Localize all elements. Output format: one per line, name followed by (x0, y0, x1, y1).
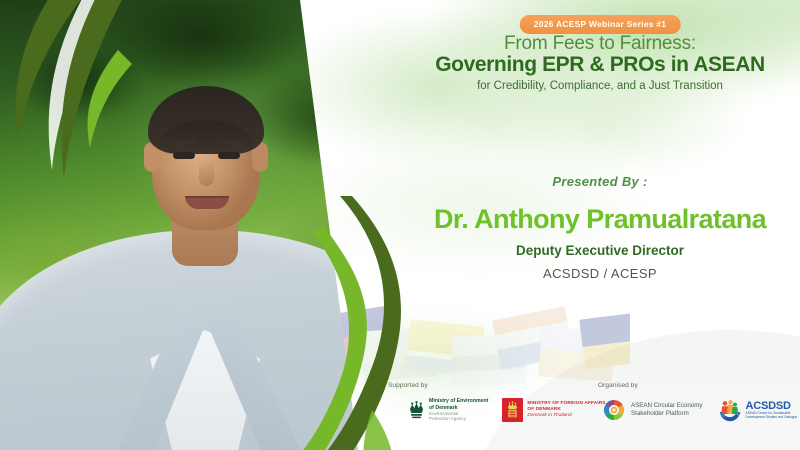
speaker-eye-right (218, 152, 240, 159)
circular-economy-wheel-icon (602, 398, 626, 422)
title-line-3: for Credibility, Compliance, and a Just … (400, 80, 800, 92)
title-line-2: Governing EPR & PROs in ASEAN (390, 53, 800, 77)
speaker-eye-left (173, 152, 195, 159)
acsdsd-line2: Development Studies and Dialogue (746, 416, 798, 419)
logo-denmark-mfa: MINISTRY OF FOREIGN AFFAIRS OF DENMARK D… (502, 398, 605, 422)
speaker-organization: ACSDSD / ACESP (400, 266, 800, 281)
asean-ce-text: ASEAN Circular Economy Stakeholder Platf… (631, 402, 703, 418)
speaker-role: Deputy Executive Director (400, 243, 800, 258)
speaker-photo (0, 0, 400, 450)
logo-asean-circular-economy: ASEAN Circular Economy Stakeholder Platf… (602, 398, 703, 422)
supporter-logos: Ministry of Environment of Denmark Envir… (408, 398, 620, 422)
asean-ce-line2: Stakeholder Platform (631, 410, 703, 418)
logo-denmark-epa: Ministry of Environment of Denmark Envir… (408, 398, 488, 421)
series-badge: 2026 ACESP Webinar Series #1 (520, 15, 681, 34)
speaker-mouth (185, 196, 229, 209)
acsdsd-text: ACSDSD ASEAN Centre for Sustainable Deve… (746, 401, 798, 419)
poster-footer: Supported by Organised by Ministry of (380, 380, 800, 450)
denmark-epa-line1: Ministry of Environment (429, 398, 488, 404)
organised-by-label: Organised by (598, 382, 638, 389)
supported-by-label: Supported by (388, 382, 428, 389)
asean-ce-line1: ASEAN Circular Economy (631, 402, 703, 410)
denmark-mfa-text: MINISTRY OF FOREIGN AFFAIRS OF DENMARK D… (527, 401, 605, 418)
title-line-1: From Fees to Fairness: (400, 33, 800, 55)
webinar-poster: 2026 ACESP Webinar Series #1 From Fees t… (0, 0, 800, 450)
denmark-epa-text: Ministry of Environment of Denmark Envir… (429, 398, 488, 421)
denmark-mfa-line3: Denmark in Thailand (527, 413, 605, 419)
organiser-logos: ASEAN Circular Economy Stakeholder Platf… (602, 398, 800, 422)
denmark-coat-of-arms-icon (502, 398, 523, 422)
denmark-epa-line4: Protection Agency (429, 416, 488, 421)
acsdsd-emblem-icon (717, 398, 743, 422)
speaker-nose (199, 160, 214, 186)
photo-background (0, 0, 400, 450)
logo-acsdsd: ACSDSD ASEAN Centre for Sustainable Deve… (717, 398, 798, 422)
speaker-name: Dr. Anthony Pramualratana (390, 204, 800, 235)
crown-icon (408, 401, 425, 420)
presented-by-label: Presented By : (400, 174, 800, 189)
